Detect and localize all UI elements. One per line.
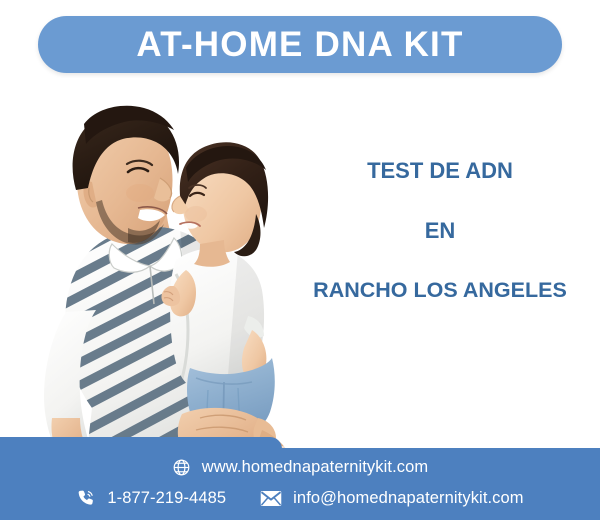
envelope-icon [260, 490, 282, 507]
header-title: AT-HOME DNA KIT [136, 27, 463, 62]
headline-block: TEST DE ADN EN RANCHO LOS ANGELES [290, 160, 590, 302]
footer-contact-row: 1-877-219-4485 info@homednapaternitykit.… [0, 488, 600, 508]
header-banner: AT-HOME DNA KIT [38, 16, 562, 73]
footer-bar: www.homednapaternitykit.com 1-877-219-44… [0, 448, 600, 520]
globe-icon [172, 458, 191, 477]
website-text: www.homednapaternitykit.com [202, 459, 428, 476]
phone-text: 1-877-219-4485 [107, 490, 226, 507]
headline-line-2: EN [290, 220, 590, 242]
email-text: info@homednapaternitykit.com [293, 490, 524, 507]
headline-line-1: TEST DE ADN [290, 160, 590, 182]
family-photo [0, 78, 330, 460]
email-contact[interactable]: info@homednapaternitykit.com [260, 490, 524, 507]
poster-canvas: AT-HOME DNA KIT [0, 0, 600, 520]
phone-icon [76, 488, 96, 508]
phone-contact[interactable]: 1-877-219-4485 [76, 488, 226, 508]
footer-website-row: www.homednapaternitykit.com [0, 458, 600, 477]
headline-line-3: RANCHO LOS ANGELES [290, 280, 590, 302]
website-contact[interactable]: www.homednapaternitykit.com [172, 458, 428, 477]
